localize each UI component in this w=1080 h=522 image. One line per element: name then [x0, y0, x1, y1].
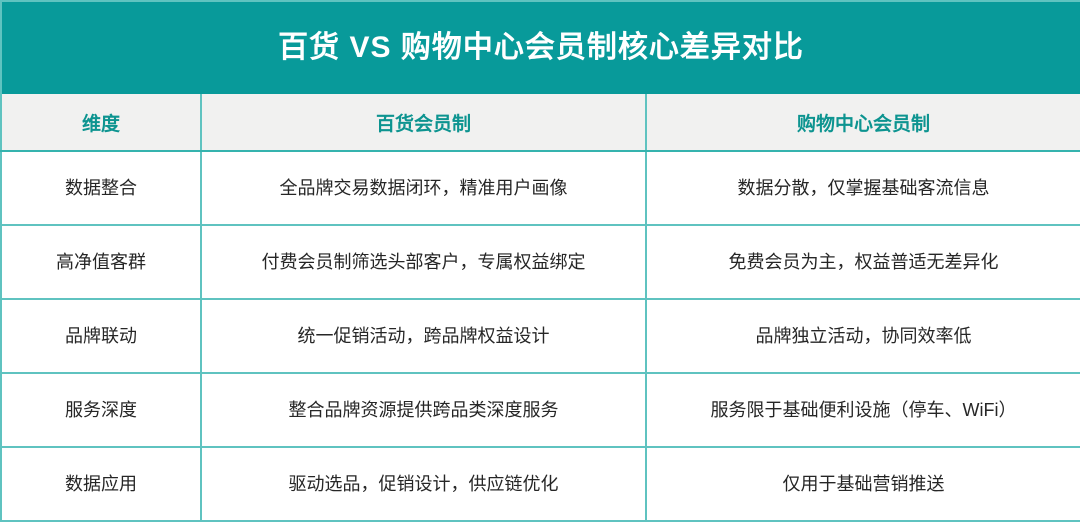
comparison-table: 百货 VS 购物中心会员制核心差异对比 维度 百货会员制 购物中心会员制 数据整…: [0, 0, 1080, 522]
table-row: 服务深度 整合品牌资源提供跨品类深度服务 服务限于基础便利设施（停车、WiFi）: [1, 373, 1080, 447]
cell-dimension: 数据整合: [1, 151, 201, 225]
cell-shopping-mall: 数据分散，仅掌握基础客流信息: [646, 151, 1080, 225]
cell-shopping-mall: 服务限于基础便利设施（停车、WiFi）: [646, 373, 1080, 447]
table-body: 数据整合 全品牌交易数据闭环，精准用户画像 数据分散，仅掌握基础客流信息 高净值…: [1, 151, 1080, 521]
cell-dimension: 服务深度: [1, 373, 201, 447]
table-row: 数据整合 全品牌交易数据闭环，精准用户画像 数据分散，仅掌握基础客流信息: [1, 151, 1080, 225]
table-row: 品牌联动 统一促销活动，跨品牌权益设计 品牌独立活动，协同效率低: [1, 299, 1080, 373]
cell-dimension: 品牌联动: [1, 299, 201, 373]
cell-department-store: 统一促销活动，跨品牌权益设计: [201, 299, 646, 373]
column-header-row: 维度 百货会员制 购物中心会员制: [1, 94, 1080, 151]
cell-dimension: 高净值客群: [1, 225, 201, 299]
table-row: 高净值客群 付费会员制筛选头部客户，专属权益绑定 免费会员为主，权益普适无差异化: [1, 225, 1080, 299]
cell-department-store: 全品牌交易数据闭环，精准用户画像: [201, 151, 646, 225]
cell-department-store: 驱动选品，促销设计，供应链优化: [201, 447, 646, 521]
cell-department-store: 付费会员制筛选头部客户，专属权益绑定: [201, 225, 646, 299]
column-header-department-store: 百货会员制: [201, 94, 646, 151]
cell-shopping-mall: 免费会员为主，权益普适无差异化: [646, 225, 1080, 299]
column-header-dimension: 维度: [1, 94, 201, 151]
table-title-band: 百货 VS 购物中心会员制核心差异对比: [1, 1, 1080, 94]
page-title: 百货 VS 购物中心会员制核心差异对比: [278, 31, 804, 64]
cell-shopping-mall: 品牌独立活动，协同效率低: [646, 299, 1080, 373]
title-row: 百货 VS 购物中心会员制核心差异对比: [1, 1, 1080, 94]
column-header-shopping-mall: 购物中心会员制: [646, 94, 1080, 151]
cell-shopping-mall: 仅用于基础营销推送: [646, 447, 1080, 521]
table-row: 数据应用 驱动选品，促销设计，供应链优化 仅用于基础营销推送: [1, 447, 1080, 521]
cell-dimension: 数据应用: [1, 447, 201, 521]
cell-department-store: 整合品牌资源提供跨品类深度服务: [201, 373, 646, 447]
